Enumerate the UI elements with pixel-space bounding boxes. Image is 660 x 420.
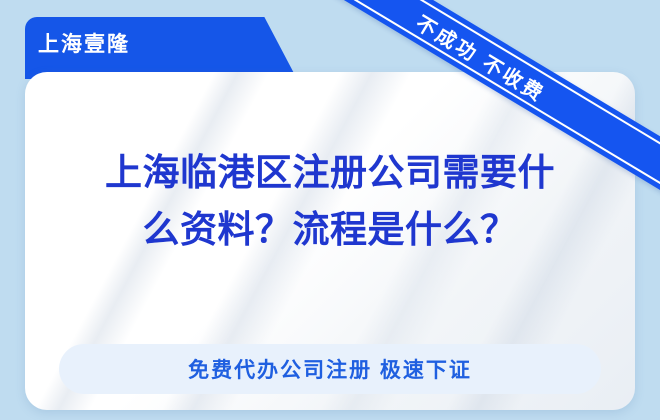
cta-button[interactable]: 免费代办公司注册 极速下证 bbox=[59, 344, 601, 394]
cta-button-label: 免费代办公司注册 极速下证 bbox=[188, 354, 472, 384]
content-card: 上海临港区注册公司需要什 么资料？流程是什么？ 免费代办公司注册 极速下证 bbox=[25, 72, 635, 410]
promo-banner: 上海壹隆 上海临港区注册公司需要什 么资料？流程是什么？ 免费代办公司注册 极速… bbox=[0, 0, 660, 420]
headline-line-2: 么资料？流程是什么？ bbox=[25, 201, 635, 258]
headline-line-1: 上海临港区注册公司需要什 bbox=[25, 144, 635, 201]
brand-tab-label: 上海壹隆 bbox=[38, 28, 130, 58]
headline: 上海临港区注册公司需要什 么资料？流程是什么？ bbox=[25, 144, 635, 259]
